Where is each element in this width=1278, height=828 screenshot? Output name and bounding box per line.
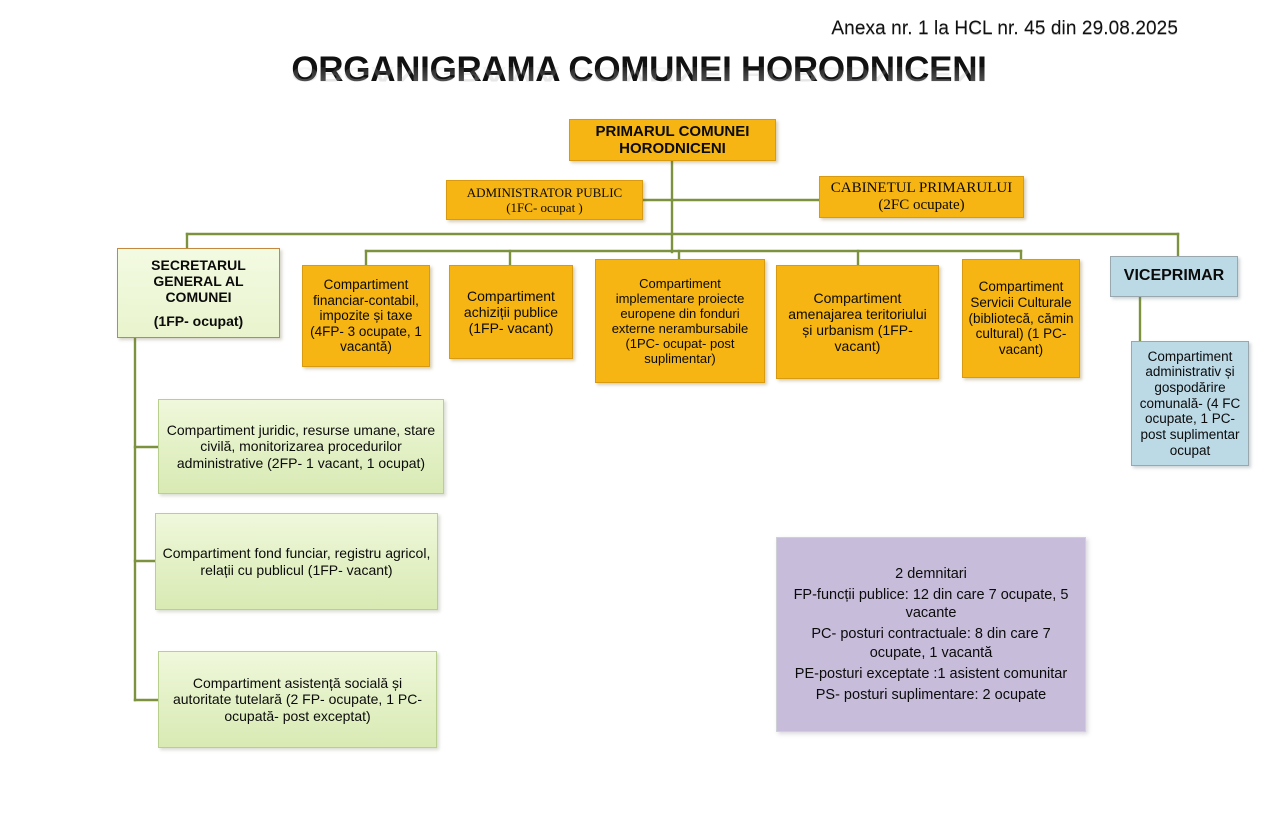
node-public-administrator-label: ADMINISTRATOR PUBLIC (1FC- ocupat )	[452, 185, 637, 215]
node-dept-urbanism[interactable]: Compartiment amenajarea teritoriului și …	[776, 265, 939, 379]
organigrama-canvas: Anexa nr. 1 la HCL nr. 45 din 29.08.2025…	[0, 0, 1278, 828]
node-dept-urbanism-label: Compartiment amenajarea teritoriului și …	[782, 290, 933, 355]
legend-line: PS- posturi suplimentare: 2 ocupate	[782, 686, 1080, 704]
node-dept-procurement[interactable]: Compartiment achiziții publice (1FP- vac…	[449, 265, 573, 359]
node-dept-procurement-label: Compartiment achiziții publice (1FP- vac…	[455, 288, 567, 337]
node-dept-legal[interactable]: Compartiment juridic, resurse umane, sta…	[158, 399, 444, 494]
node-secretary-label: SECRETARUL GENERAL AL COMUNEI	[123, 257, 274, 306]
node-dept-administrative-label: Compartiment administrativ și gospodărir…	[1137, 349, 1243, 459]
legend-line: PE-posturi exceptate :1 asistent comunit…	[782, 665, 1080, 683]
node-mayor-cabinet[interactable]: CABINETUL PRIMARULUI (2FC ocupate)	[819, 176, 1024, 218]
node-dept-eu-projects[interactable]: Compartiment implementare proiecte europ…	[595, 259, 765, 383]
node-dept-administrative[interactable]: Compartiment administrativ și gospodărir…	[1131, 341, 1249, 466]
page-title-reflection: ORGANIGRAMA COMUNEI HORODNICENI	[0, 61, 1278, 86]
node-dept-social-label: Compartiment asistență socială și autori…	[164, 675, 431, 724]
legend-box: 2 demnitari FP-funcții publice: 12 din c…	[776, 537, 1086, 732]
node-dept-financial-label: Compartiment financiar-contabil, impozit…	[308, 277, 424, 355]
node-mayor-cabinet-label: CABINETUL PRIMARULUI (2FC ocupate)	[825, 180, 1018, 215]
node-mayor[interactable]: PRIMARUL COMUNEI HORODNICENI	[569, 119, 776, 161]
node-dept-legal-label: Compartiment juridic, resurse umane, sta…	[164, 422, 438, 471]
node-deputy-mayor[interactable]: VICEPRIMAR	[1110, 256, 1238, 297]
node-dept-land-registry-label: Compartiment fond funciar, registru agri…	[161, 545, 432, 577]
node-dept-land-registry[interactable]: Compartiment fond funciar, registru agri…	[155, 513, 438, 610]
node-secretary[interactable]: SECRETARUL GENERAL AL COMUNEI (1FP- ocup…	[117, 248, 280, 338]
node-dept-financial[interactable]: Compartiment financiar-contabil, impozit…	[302, 265, 430, 367]
node-public-administrator[interactable]: ADMINISTRATOR PUBLIC (1FC- ocupat )	[446, 180, 643, 220]
annex-note: Anexa nr. 1 la HCL nr. 45 din 29.08.2025	[831, 18, 1178, 40]
node-dept-social[interactable]: Compartiment asistență socială și autori…	[158, 651, 437, 748]
node-deputy-mayor-label: VICEPRIMAR	[1116, 267, 1232, 286]
node-dept-eu-projects-label: Compartiment implementare proiecte europ…	[601, 276, 759, 366]
node-mayor-label: PRIMARUL COMUNEI HORODNICENI	[575, 123, 770, 158]
legend-line: 2 demnitari	[782, 565, 1080, 583]
node-dept-culture-label: Compartiment Servicii Culturale (bibliot…	[968, 279, 1074, 357]
legend-line: PC- posturi contractuale: 8 din care 7 o…	[782, 625, 1080, 662]
node-dept-culture[interactable]: Compartiment Servicii Culturale (bibliot…	[962, 259, 1080, 378]
node-secretary-count: (1FP- ocupat)	[123, 313, 274, 329]
legend-line: FP-funcții publice: 12 din care 7 ocupat…	[782, 586, 1080, 623]
